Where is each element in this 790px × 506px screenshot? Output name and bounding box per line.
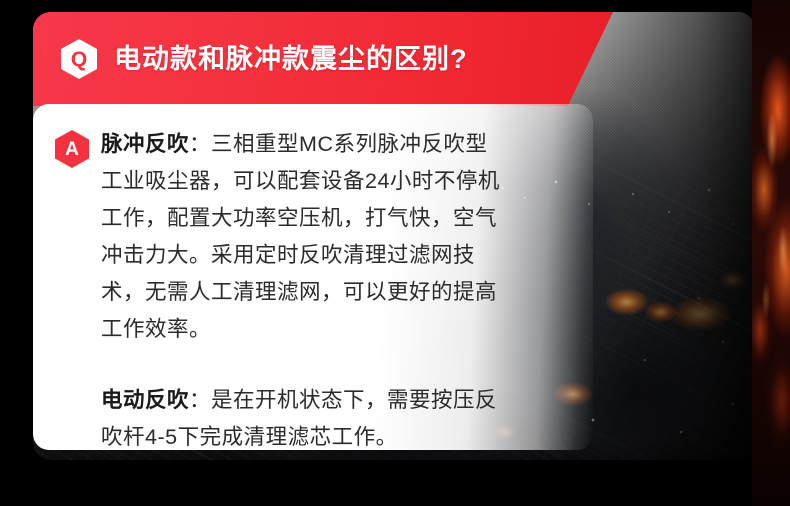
answer-paragraph-lead: 脉冲反吹 xyxy=(101,132,189,156)
answer-badge-letter: A xyxy=(65,140,79,159)
answer-paragraph-line: 吹杆4-5下完成清理滤芯工作。 xyxy=(101,419,593,456)
flame-texture-strip xyxy=(752,0,790,506)
answer-paragraph-line: 脉冲反吹：三相重型MC系列脉冲反吹型 xyxy=(101,126,593,163)
answer-paragraph-line: 术，无需人工清理滤网，可以更好的提高 xyxy=(101,274,593,311)
hexagon-q-icon: Q xyxy=(61,39,97,79)
question-header: Q 电动款和脉冲款震尘的区别? xyxy=(33,12,613,106)
answer-paragraph-text: 三相重型MC系列脉冲反吹型 xyxy=(211,132,487,156)
answer-paragraph-text: 是在开机状态下，需要按压反 xyxy=(211,388,497,412)
answer-paragraph-line: 工作，配置大功率空压机，打气快，空气 xyxy=(101,200,593,237)
answer-card-inner: A 脉冲反吹：三相重型MC系列脉冲反吹型 工业吸尘器，可以配套设备24小时不停机… xyxy=(55,126,593,456)
answer-card: A 脉冲反吹：三相重型MC系列脉冲反吹型 工业吸尘器，可以配套设备24小时不停机… xyxy=(33,104,593,450)
answer-paragraph-line: 工业吸尘器，可以配套设备24小时不停机 xyxy=(101,163,593,200)
page-root: Q 电动款和脉冲款震尘的区别? A 脉冲反吹：三相重型MC系列脉冲反吹型 工业吸… xyxy=(0,0,790,506)
answer-body: 脉冲反吹：三相重型MC系列脉冲反吹型 工业吸尘器，可以配套设备24小时不停机 工… xyxy=(101,126,593,456)
question-badge-letter: Q xyxy=(71,49,87,70)
answer-badge-slot: A xyxy=(55,126,89,168)
answer-paragraph-lead: 电动反吹 xyxy=(101,388,189,412)
answer-paragraph-line: 电动反吹：是在开机状态下，需要按压反 xyxy=(101,382,593,419)
answer-paragraph: 脉冲反吹：三相重型MC系列脉冲反吹型 工业吸尘器，可以配套设备24小时不停机 工… xyxy=(101,126,593,348)
answer-paragraph: 电动反吹：是在开机状态下，需要按压反 吹杆4-5下完成清理滤芯工作。 xyxy=(101,382,593,456)
answer-paragraph-separator: ： xyxy=(189,388,211,412)
answer-paragraph-line: 工作效率。 xyxy=(101,311,593,348)
hexagon-a-icon: A xyxy=(55,130,89,168)
question-header-inner: Q 电动款和脉冲款震尘的区别? xyxy=(33,39,468,79)
answer-paragraph-line: 冲击力大。采用定时反吹清理过滤网技 xyxy=(101,237,593,274)
page-title: 电动款和脉冲款震尘的区别? xyxy=(114,46,468,73)
answer-paragraph-separator: ： xyxy=(189,132,211,156)
